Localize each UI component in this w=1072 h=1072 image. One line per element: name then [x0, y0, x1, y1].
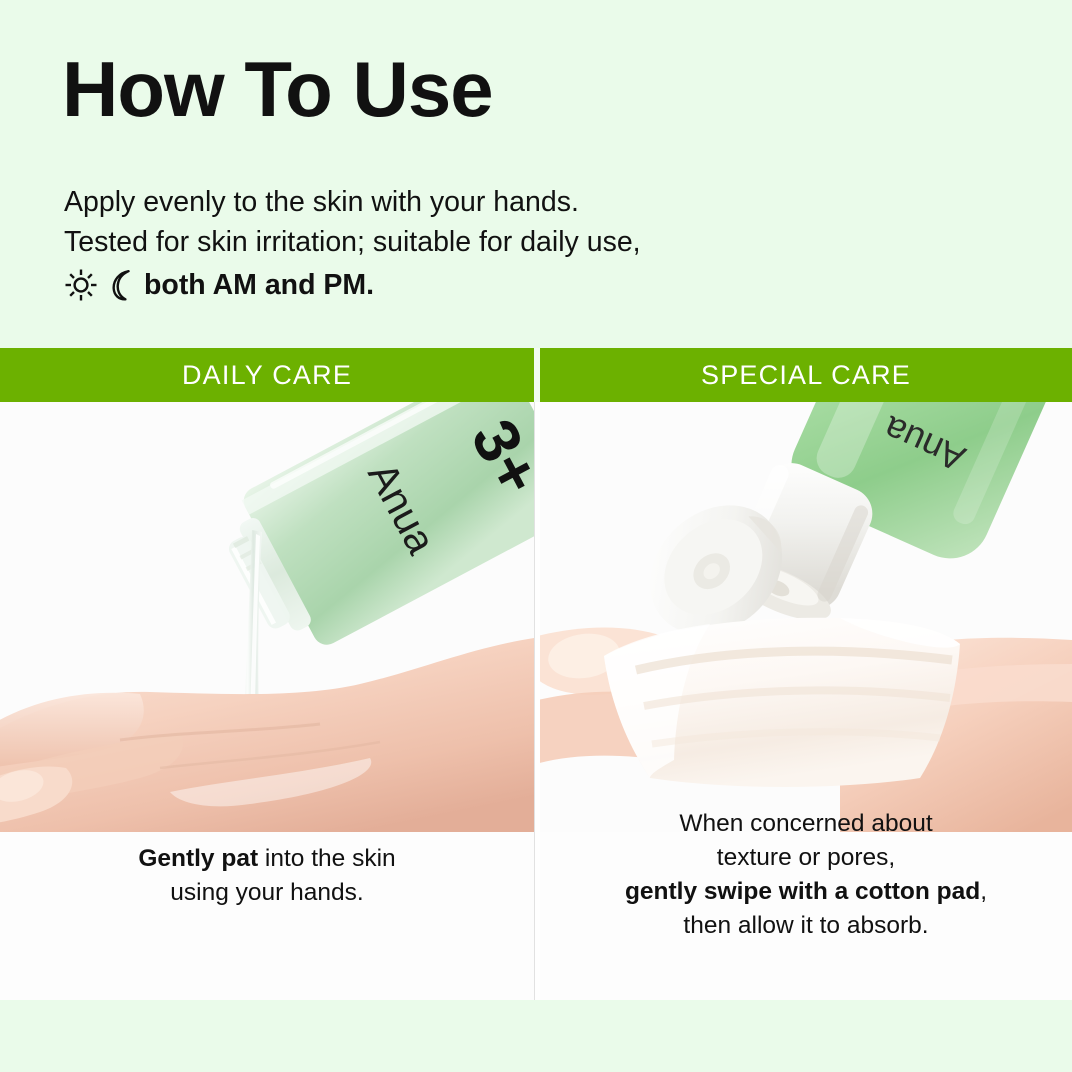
- header-section: How To Use Apply evenly to the skin with…: [0, 0, 1072, 348]
- footer-band: [0, 1000, 1072, 1072]
- caption-line-3: gently swipe with a cotton pad,: [540, 875, 1072, 909]
- special-care-photo: Anua: [540, 402, 1072, 832]
- daily-care-photo: Anua 3+: [0, 402, 534, 832]
- page-title: How To Use: [62, 50, 493, 128]
- caption-line-4: then allow it to absorb.: [540, 909, 1072, 943]
- sun-icon: [64, 268, 98, 302]
- caption-line-2: texture or pores,: [540, 841, 1072, 875]
- caption-bold-phrase: gently swipe with a cotton pad: [625, 878, 980, 905]
- intro-line-3: both AM and PM.: [64, 265, 641, 305]
- care-banner-row: DAILY CARE SPECIAL CARE: [0, 348, 1072, 402]
- intro-line-1: Apply evenly to the skin with your hands…: [64, 182, 641, 222]
- banner-special-care: SPECIAL CARE: [540, 348, 1072, 402]
- am-pm-text: both AM and PM.: [144, 265, 374, 305]
- caption-bold-phrase: Gently pat: [138, 845, 258, 872]
- panel-daily-care: Anua 3+: [0, 402, 534, 1000]
- caption-line-3-rest: ,: [980, 878, 987, 905]
- intro-line-2: Tested for skin irritation; suitable for…: [64, 222, 641, 262]
- banner-daily-care: DAILY CARE: [0, 348, 534, 402]
- moon-icon: [105, 268, 137, 302]
- daily-care-caption: Gently pat into the skin using your hand…: [0, 842, 534, 910]
- special-care-caption: When concerned about texture or pores, g…: [540, 807, 1072, 943]
- caption-line-1-rest: into the skin: [258, 845, 396, 872]
- care-panels-row: Anua 3+: [0, 402, 1072, 1000]
- caption-line-1: When concerned about: [540, 807, 1072, 841]
- caption-line-1: Gently pat into the skin: [0, 842, 534, 876]
- panel-special-care: Anua: [540, 402, 1072, 1000]
- intro-text-block: Apply evenly to the skin with your hands…: [64, 182, 641, 305]
- caption-line-2: using your hands.: [0, 876, 534, 910]
